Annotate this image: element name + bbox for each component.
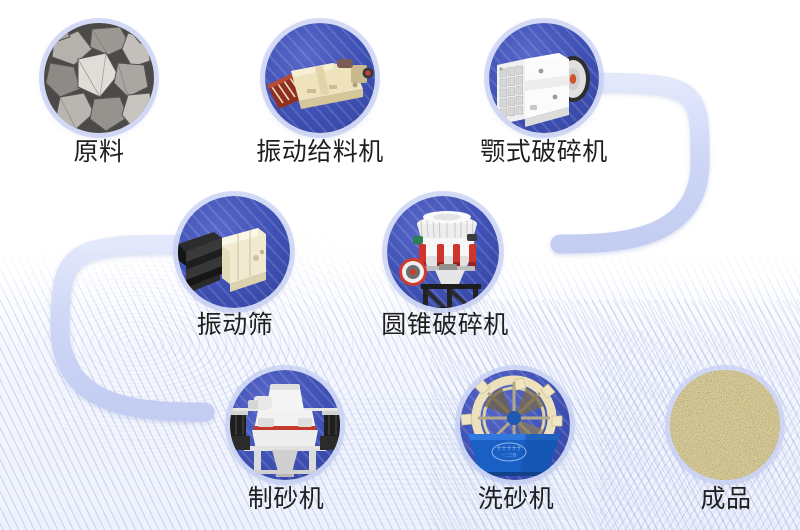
finished-product-disc[interactable] bbox=[670, 370, 780, 480]
sand-maker-icon bbox=[230, 370, 340, 480]
cone-crusher-label: 圆锥破碎机 bbox=[370, 312, 520, 337]
sand-washer-icon: 十十十十十 一二三四 bbox=[460, 370, 570, 480]
jaw-crusher-disc[interactable] bbox=[489, 23, 599, 133]
raw-material-disc[interactable] bbox=[44, 23, 154, 133]
vibrating-screen-disc[interactable] bbox=[178, 196, 290, 308]
cone-crusher-icon bbox=[387, 196, 499, 308]
raw-material-label: 原料 bbox=[24, 139, 174, 164]
sand-washer-disc[interactable]: 十十十十十 一二三四 bbox=[460, 370, 570, 480]
finished-product-label: 成品 bbox=[670, 486, 782, 511]
vibrating-feeder-icon bbox=[265, 23, 375, 133]
sand-maker-label: 制砂机 bbox=[230, 486, 342, 511]
process-flow-diagram: 原料 bbox=[0, 0, 800, 530]
gravel-rocks-icon bbox=[44, 23, 154, 133]
sand-maker-disc[interactable] bbox=[230, 370, 340, 480]
svg-text:十十十十十: 十十十十十 bbox=[496, 445, 521, 452]
cone-crusher-disc[interactable] bbox=[387, 196, 499, 308]
sand-washer-label: 洗砂机 bbox=[460, 486, 572, 511]
svg-text:一二三四: 一二三四 bbox=[502, 453, 517, 457]
finished-sand-icon bbox=[670, 370, 780, 480]
vibrating-screen-label: 振动筛 bbox=[180, 312, 290, 337]
vibrating-feeder-label: 振动给料机 bbox=[245, 139, 395, 164]
vibrating-screen-icon bbox=[178, 196, 290, 308]
jaw-crusher-icon bbox=[489, 23, 599, 133]
vibrating-feeder-disc[interactable] bbox=[265, 23, 375, 133]
jaw-crusher-label: 颚式破碎机 bbox=[464, 139, 624, 164]
